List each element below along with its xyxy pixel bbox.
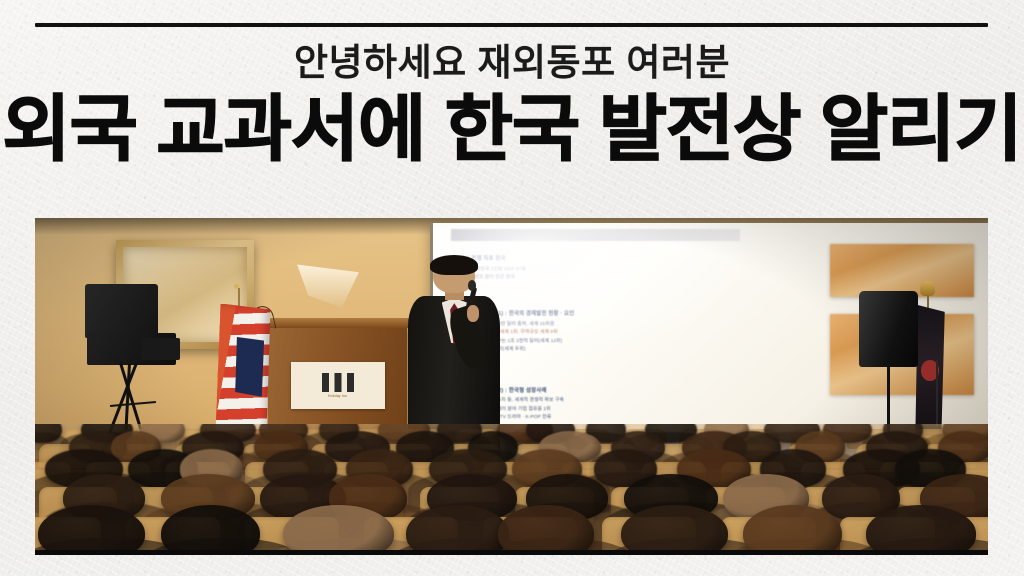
podium-top-surface (259, 318, 417, 328)
conference-photo: 6.25 전쟁 직후 한국 세계 최빈국 1인당 GDP 67불 외국원조 없이… (35, 218, 988, 555)
slide-bullet: 반도체 · 디스플레이 분야 기업 점유율 1위 (465, 405, 802, 412)
camera-body-icon (85, 284, 158, 338)
podium-brand-text: Holiday Inn (328, 394, 347, 398)
flag-canton (235, 337, 264, 397)
slide-block-3: 한국의 경제발전(2) : 한국형 성장사례 IT와 조선업, 자동차 등, 세… (458, 386, 802, 421)
audience (35, 424, 988, 550)
mic-stand-icon (936, 360, 938, 426)
title-divider-rule (35, 23, 988, 27)
flag-finial-icon (920, 281, 935, 297)
slide-photo-top (830, 244, 974, 297)
presenter-hair (430, 255, 478, 276)
podium-plaque: Holiday Inn (291, 362, 385, 409)
page-title: 외국 교과서에 한국 발전상 알리기 (0, 92, 1024, 168)
photo-scene: 6.25 전쟁 직후 한국 세계 최빈국 1인당 GDP 67불 외국원조 없이… (35, 218, 988, 550)
microphone-head-icon (468, 280, 476, 290)
slide-bullet: 일류 문화 한류 : TV 드라마 · K-POP 한류 (465, 413, 802, 420)
subtitle: 안녕하세요 재외동포 여러분 (0, 40, 1024, 86)
hotel-logo-icon (322, 373, 354, 392)
camera-lens-icon (141, 338, 180, 360)
presenter-hand (467, 305, 480, 321)
slide-heading: 한국의 경제발전(2) : 한국형 성장사례 (458, 386, 802, 394)
header: 안녕하세요 재외동포 여러분 외국 교과서에 한국 발전상 알리기 (0, 0, 1024, 208)
slide-bullet: IT와 조선업, 자동차 등, 세계적 경쟁력 확보 구축 (465, 396, 802, 403)
speaker-cabinet (859, 291, 918, 367)
